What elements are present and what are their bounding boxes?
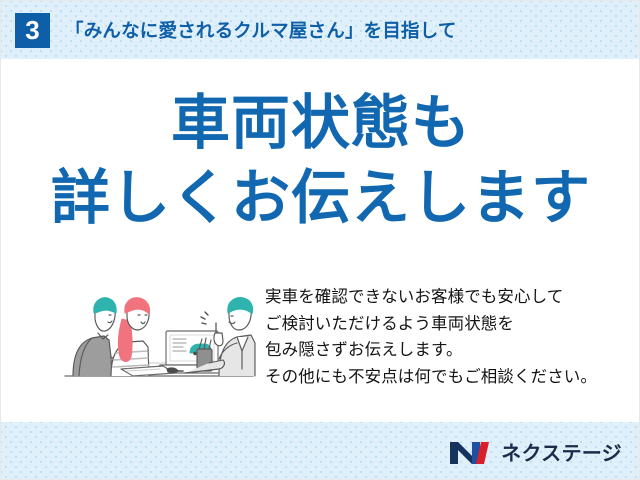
- header-band: 3 「みんなに愛されるクルマ屋さん」を目指して: [1, 1, 640, 59]
- nextage-logo: ネクステージ: [448, 437, 622, 466]
- nextage-logo-text: ネクステージ: [501, 437, 622, 466]
- headline-line-2: 詳しくお伝えします: [1, 168, 640, 228]
- body-copy-line-4: その他にも不安点は何でもご相談ください。: [265, 364, 617, 391]
- body-copy-line-1: 実車を確認できないお客様でも安心して: [265, 284, 617, 311]
- consultation-illustration-svg: [59, 283, 259, 389]
- headline: 車両状態も 詳しくお伝えします: [1, 93, 640, 228]
- header-title: 「みんなに愛されるクルマ屋さん」を目指して: [65, 17, 457, 43]
- body-copy-line-3: 包み隠さずお伝えします。: [265, 337, 617, 364]
- body-copy-line-2: ご検討いただけるよう車両状態を: [265, 311, 617, 338]
- headline-line-1: 車両状態も: [1, 93, 640, 153]
- footer-band: ネクステージ: [1, 422, 640, 480]
- consultation-illustration: [59, 283, 259, 389]
- promo-banner: 3 「みんなに愛されるクルマ屋さん」を目指して 車両状態も 詳しくお伝えします: [0, 0, 640, 480]
- nextage-n-mark-icon: [448, 438, 494, 466]
- step-number-badge: 3: [15, 13, 50, 48]
- body-copy: 実車を確認できないお客様でも安心して ご検討いただけるよう車両状態を 包み隠さず…: [265, 284, 617, 391]
